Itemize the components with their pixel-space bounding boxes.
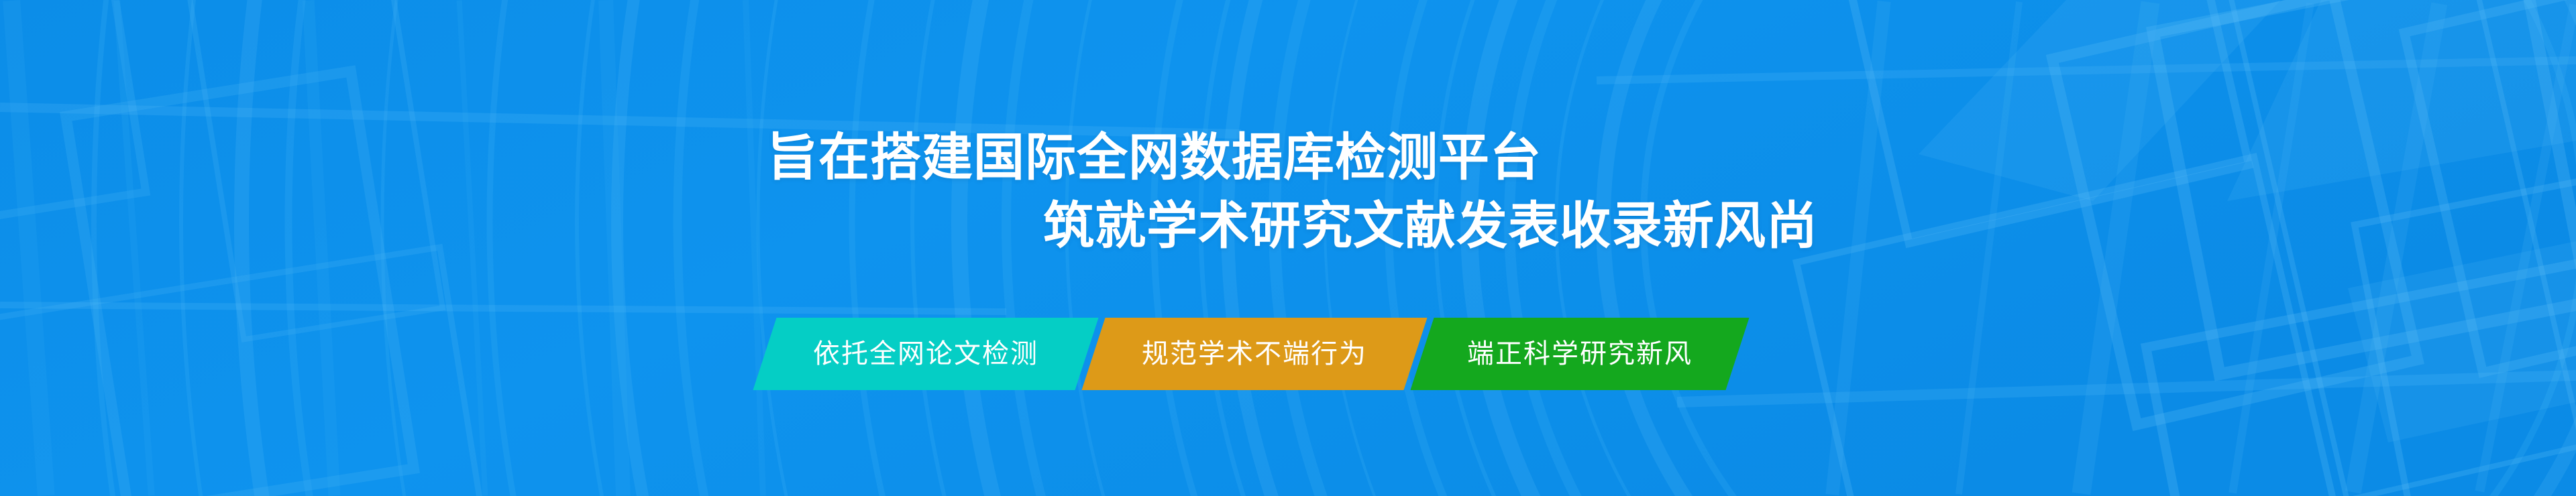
feature-tag-academic-misconduct[interactable]: 规范学术不端行为 xyxy=(1081,318,1427,390)
feature-tag-strip: 依托全网论文检测 规范学术不端行为 端正科学研究新风 xyxy=(765,318,1811,391)
feature-tag-label: 端正科学研究新风 xyxy=(1467,338,1693,370)
background-decoration xyxy=(0,0,2576,496)
feature-tag-research-ethics[interactable]: 端正科学研究新风 xyxy=(1410,318,1749,390)
feature-tag-label: 规范学术不端行为 xyxy=(1142,338,1367,370)
hero-banner: 旨在搭建国际全网数据库检测平台 筑就学术研究文献发表收录新风尚 依托全网论文检测… xyxy=(0,0,2576,496)
feature-tag-plagiarism-detection[interactable]: 依托全网论文检测 xyxy=(753,318,1098,390)
feature-tag-label: 依托全网论文检测 xyxy=(813,338,1038,370)
